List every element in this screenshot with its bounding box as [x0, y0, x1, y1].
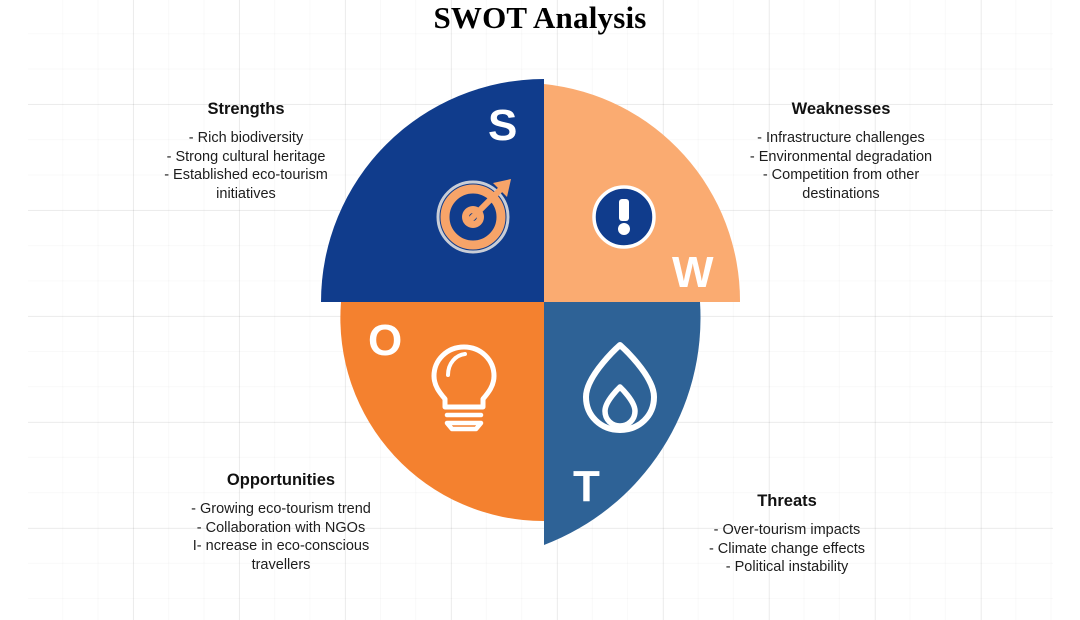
- quadrant-letter-o: O: [368, 319, 402, 363]
- text-block-opportunities: Opportunities - Growing eco-tourism tren…: [152, 471, 410, 574]
- items-strengths: - Rich biodiversity - Strong cultural he…: [120, 129, 372, 203]
- heading-opportunities: Opportunities: [152, 471, 410, 489]
- swot-diagram-canvas: SWOT Analysis: [0, 0, 1080, 620]
- heading-strengths: Strengths: [120, 100, 372, 118]
- text-block-strengths: Strengths - Rich biodiversity - Strong c…: [120, 100, 372, 203]
- text-block-threats: Threats - Over-tourism impacts - Climate…: [658, 492, 916, 577]
- target-icon: [438, 179, 511, 252]
- text-block-weaknesses: Weaknesses - Infrastructure challenges -…: [712, 100, 970, 203]
- heading-weaknesses: Weaknesses: [712, 100, 970, 118]
- heading-threats: Threats: [658, 492, 916, 510]
- items-threats: - Over-tourism impacts - Climate change …: [658, 521, 916, 577]
- quadrant-letter-s: S: [488, 104, 517, 148]
- items-opportunities: - Growing eco-tourism trend - Collaborat…: [152, 500, 410, 574]
- quadrant-letter-w: W: [672, 251, 714, 295]
- exclamation-circle-icon: [594, 187, 654, 247]
- items-weaknesses: - Infrastructure challenges - Environmen…: [712, 129, 970, 203]
- quadrant-letter-t: T: [573, 465, 600, 509]
